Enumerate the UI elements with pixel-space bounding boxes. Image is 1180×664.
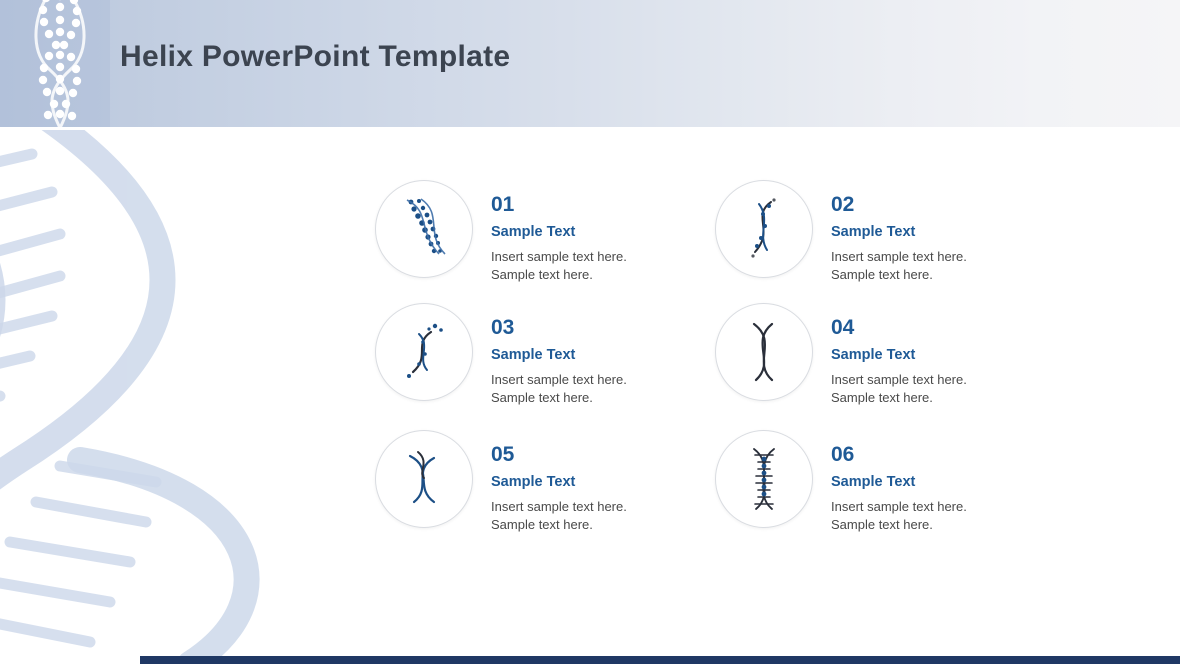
- item-title: Sample Text: [831, 348, 967, 363]
- slide: Helix PowerPoint Template: [0, 0, 1180, 664]
- item-number: 05: [491, 444, 627, 465]
- item-title: Sample Text: [491, 348, 627, 363]
- item-icon-circle: [715, 303, 813, 401]
- item-number: 06: [831, 444, 967, 465]
- item-description: Insert sample text here. Sample text her…: [831, 248, 967, 286]
- item-text: 02 Sample Text Insert sample text here. …: [831, 180, 967, 285]
- item-text: 05 Sample Text Insert sample text here. …: [491, 430, 627, 535]
- item-icon-circle: [375, 180, 473, 278]
- dna-helix-icon-ladder: [742, 445, 786, 513]
- item-title: Sample Text: [831, 225, 967, 240]
- item-text: 03 Sample Text Insert sample text here. …: [491, 303, 627, 408]
- list-item[interactable]: 04 Sample Text Insert sample text here. …: [715, 303, 967, 408]
- item-text: 06 Sample Text Insert sample text here. …: [831, 430, 967, 535]
- item-icon-circle: [375, 303, 473, 401]
- list-item[interactable]: 05 Sample Text Insert sample text here. …: [375, 430, 627, 535]
- bottom-bar-notch: [0, 656, 140, 664]
- item-description: Insert sample text here. Sample text her…: [831, 498, 967, 536]
- list-item[interactable]: 01 Sample Text Insert sample text here. …: [375, 180, 627, 285]
- dna-helix-icon-double-strand: [742, 320, 786, 384]
- items-grid: 01 Sample Text Insert sample text here. …: [375, 180, 1075, 580]
- item-text: 01 Sample Text Insert sample text here. …: [491, 180, 627, 285]
- item-description: Insert sample text here. Sample text her…: [491, 248, 627, 286]
- item-icon-circle: [375, 430, 473, 528]
- item-number: 02: [831, 194, 967, 215]
- dna-helix-watermark: [0, 130, 380, 664]
- list-item[interactable]: 03 Sample Text Insert sample text here. …: [375, 303, 627, 408]
- dna-helix-icon-dotted: [397, 196, 451, 262]
- item-number: 03: [491, 317, 627, 338]
- item-title: Sample Text: [491, 225, 627, 240]
- item-description: Insert sample text here. Sample text her…: [491, 498, 627, 536]
- item-description: Insert sample text here. Sample text her…: [831, 371, 967, 409]
- bottom-bar: [0, 656, 1180, 664]
- dna-helix-icon: [30, 0, 90, 134]
- list-item[interactable]: 06 Sample Text Insert sample text here. …: [715, 430, 967, 535]
- item-number: 04: [831, 317, 967, 338]
- page-title: Helix PowerPoint Template: [120, 40, 510, 74]
- item-description: Insert sample text here. Sample text her…: [491, 371, 627, 409]
- item-icon-circle: [715, 180, 813, 278]
- item-text: 04 Sample Text Insert sample text here. …: [831, 303, 967, 408]
- slide-header: Helix PowerPoint Template: [0, 0, 1180, 127]
- dna-helix-icon-fragment: [399, 320, 449, 384]
- dna-helix-icon-strand: [741, 196, 787, 262]
- item-number: 01: [491, 194, 627, 215]
- list-item[interactable]: 02 Sample Text Insert sample text here. …: [715, 180, 967, 285]
- item-title: Sample Text: [491, 475, 627, 490]
- item-title: Sample Text: [831, 475, 967, 490]
- item-icon-circle: [715, 430, 813, 528]
- dna-helix-icon-crossed: [400, 448, 448, 510]
